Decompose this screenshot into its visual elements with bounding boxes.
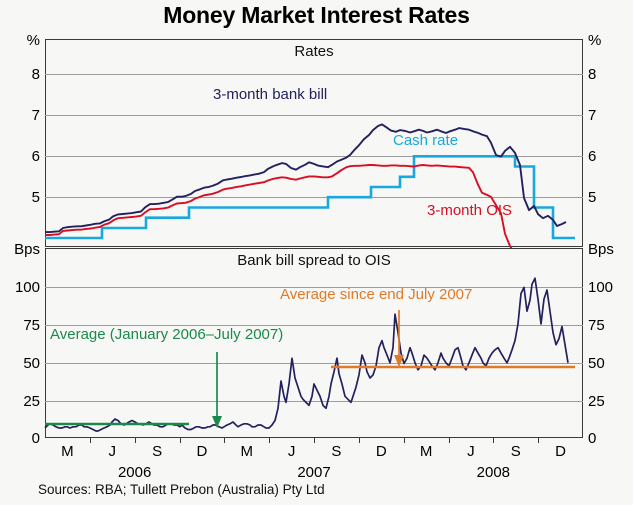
axis-unit-right-bottom: Bps [588, 241, 633, 258]
ytick-left-top-3: 5 [0, 189, 40, 206]
ytick-right-top-0: 8 [588, 66, 633, 83]
x-axis-month-label: D [546, 443, 576, 460]
x-tick [359, 438, 360, 443]
spread-panel: Bank bill spread to OIS Average since en… [45, 248, 583, 438]
x-axis-month-label: M [52, 443, 82, 460]
x-axis-month-label: J [456, 443, 486, 460]
x-tick [90, 438, 91, 443]
x-tick [135, 438, 136, 443]
sources-note: Sources: RBA; Tullett Prebon (Australia)… [38, 482, 325, 497]
x-axis-year-label: 2008 [463, 464, 523, 481]
ytick-left-top-2: 6 [0, 148, 40, 165]
x-axis-year-label: 2007 [284, 464, 344, 481]
x-tick [538, 438, 539, 443]
x-tick [449, 438, 450, 443]
ytick-right-top-3: 5 [588, 189, 633, 206]
x-axis-year-label: 2006 [105, 464, 165, 481]
x-axis-month-label: S [501, 443, 531, 460]
cash-rate-line [45, 156, 575, 238]
ytick-right-top-1: 7 [588, 107, 633, 124]
average-early-arrow-head [212, 416, 222, 428]
x-tick [224, 438, 225, 443]
x-tick [314, 438, 315, 443]
x-axis-month-label: J [97, 443, 127, 460]
x-axis-month-label: J [277, 443, 307, 460]
x-tick [493, 438, 494, 443]
x-axis-month-label: M [232, 443, 262, 460]
ytick-left-bottom-3: 25 [0, 393, 40, 410]
axis-unit-left-bottom: Bps [0, 241, 40, 258]
ytick-right-bottom-2: 50 [588, 355, 633, 372]
x-tick [180, 438, 181, 443]
annotation-average-early: Average (January 2006–July 2007) [50, 326, 283, 343]
ytick-left-bottom-2: 50 [0, 355, 40, 372]
ytick-right-top-2: 6 [588, 148, 633, 165]
ytick-left-bottom-0: 100 [0, 279, 40, 296]
axis-unit-left-top: % [0, 32, 40, 49]
ytick-left-top-0: 8 [0, 66, 40, 83]
ytick-right-bottom-0: 100 [588, 279, 633, 296]
x-axis-month-label: S [321, 443, 351, 460]
spread-plot [45, 248, 583, 438]
page-title: Money Market Interest Rates [0, 2, 633, 29]
series-label-ois: 3-month OIS [427, 202, 512, 219]
rates-panel: Rates 3-month bank bill Cash rate 3-mont… [45, 39, 583, 247]
ytick-right-bottom-3: 25 [588, 393, 633, 410]
series-label-bank-bill: 3-month bank bill [213, 86, 327, 103]
ytick-left-bottom-4: 0 [0, 430, 40, 447]
ytick-left-bottom-1: 75 [0, 317, 40, 334]
x-tick [404, 438, 405, 443]
x-axis-month-label: M [411, 443, 441, 460]
x-axis-month-label: S [142, 443, 172, 460]
x-tick [269, 438, 270, 443]
series-label-cash-rate: Cash rate [393, 132, 458, 149]
annotation-average-late: Average since end July 2007 [280, 286, 472, 303]
ytick-left-top-1: 7 [0, 107, 40, 124]
axis-unit-right-top: % [588, 32, 633, 49]
ytick-right-bottom-1: 75 [588, 317, 633, 334]
ytick-right-bottom-4: 0 [588, 430, 633, 447]
x-axis-month-label: D [187, 443, 217, 460]
x-axis-month-label: D [366, 443, 396, 460]
